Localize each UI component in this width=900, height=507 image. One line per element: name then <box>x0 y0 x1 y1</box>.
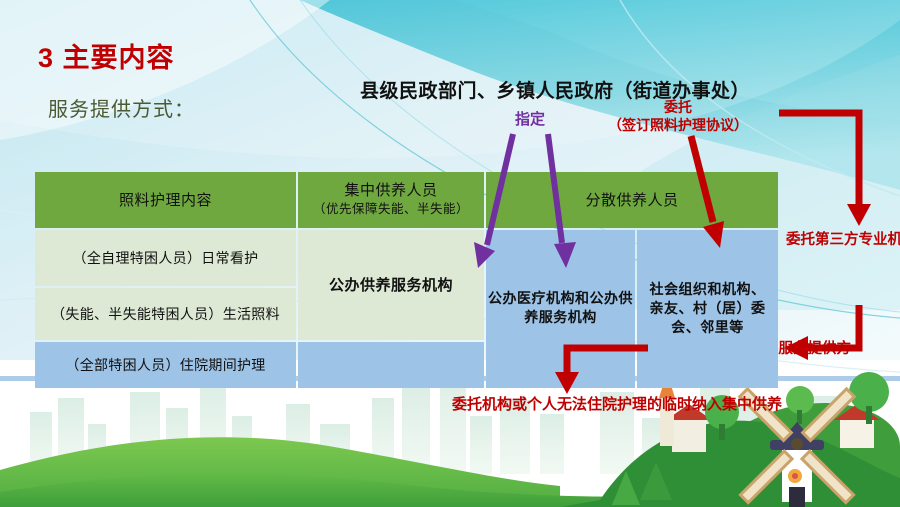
annotation-entrust-line1: 委托 <box>578 99 778 117</box>
table-header-dispersed: 分散供养人员 <box>486 172 778 228</box>
table-row: （全自理特困人员）日常看护 公办供养服务机构 公办医疗机构和公办供养服务机构 社… <box>35 230 778 286</box>
annotation-entrust: 委托 （签订照料护理协议） <box>578 99 778 135</box>
section-subtitle: 服务提供方式： <box>48 93 195 122</box>
cell-dispersed-public-medical: 公办医疗机构和公办供养服务机构 <box>486 230 635 388</box>
table-header-row: 照料护理内容 集中供养人员 （优先保障失能、半失能） 分散供养人员 <box>35 172 778 228</box>
cell-dispersed-social-orgs: 社会组织和机构、亲友、村（居）委会、邻里等 <box>637 230 778 388</box>
annotation-entrust-line2: （签订照料护理协议） <box>578 117 778 135</box>
table-header-care-content: 照料护理内容 <box>35 172 296 228</box>
cell-centralized-hospital <box>298 342 484 388</box>
annotation-third-party-supervision: 委托第三方专业机构对服务予以评估和监督 <box>786 230 896 249</box>
annotation-bottom-note: 委托机构或个人无法住院护理的临时纳入集中供养 <box>452 393 682 416</box>
slide-canvas: 3 主要内容 服务提供方式： 县级民政部门、乡镇人民政府（街道办事处） 指定 委… <box>0 0 900 507</box>
row-label-living-care: （失能、半失能特困人员）生活照料 <box>35 288 296 340</box>
row-label-daily-care: （全自理特困人员）日常看护 <box>35 230 296 286</box>
page-title: 3 主要内容 <box>38 36 175 75</box>
cell-centralized-public-institution: 公办供养服务机构 <box>298 230 484 340</box>
table-header-centralized: 集中供养人员 （优先保障失能、半失能） <box>298 172 484 228</box>
row-label-hospital-care: （全部特困人员）住院期间护理 <box>35 342 296 388</box>
table-element: 照料护理内容 集中供养人员 （优先保障失能、半失能） 分散供养人员 （全自理特困… <box>33 170 780 390</box>
care-service-table: 照料护理内容 集中供养人员 （优先保障失能、半失能） 分散供养人员 （全自理特困… <box>33 170 780 390</box>
annotation-designate: 指定 <box>515 108 545 129</box>
